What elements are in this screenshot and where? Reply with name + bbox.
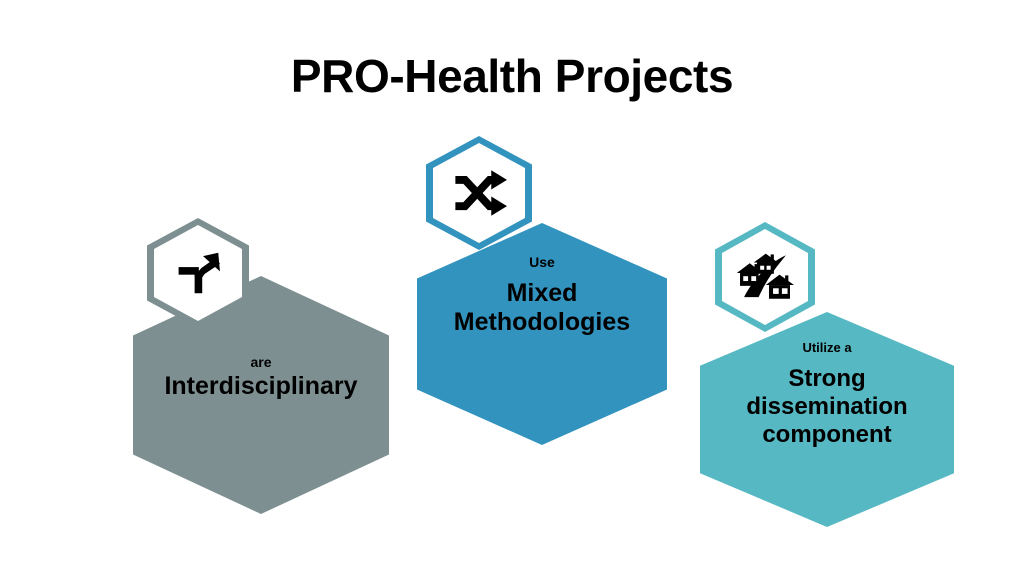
hexagon-badge-mixed-methodologies <box>426 136 532 250</box>
page-title: PRO-Health Projects <box>0 52 1024 100</box>
hexagon-badge-inner-interdisciplinary <box>154 225 242 321</box>
hexagon-badge-inner-mixed-methodologies <box>433 143 525 243</box>
hexagon-badge-inner-dissemination <box>722 229 808 325</box>
fork-road-arrow-icon <box>171 246 225 300</box>
hexagon-body-mixed-methodologies <box>417 223 667 445</box>
hexagon-card-dissemination[interactable]: Utilize a Strongdisseminationcomponent <box>700 222 954 527</box>
hexagon-badge-dissemination <box>715 222 815 332</box>
hexagon-card-mixed-methodologies[interactable]: Use MixedMethodologies <box>417 136 667 446</box>
village-houses-road-icon <box>736 252 794 302</box>
hexagon-body-dissemination <box>700 312 954 527</box>
slide-canvas: PRO-Health Projects <box>0 0 1024 580</box>
shuffle-arrows-icon <box>451 168 507 218</box>
hexagon-card-interdisciplinary[interactable]: are Interdisciplinary <box>133 218 389 514</box>
